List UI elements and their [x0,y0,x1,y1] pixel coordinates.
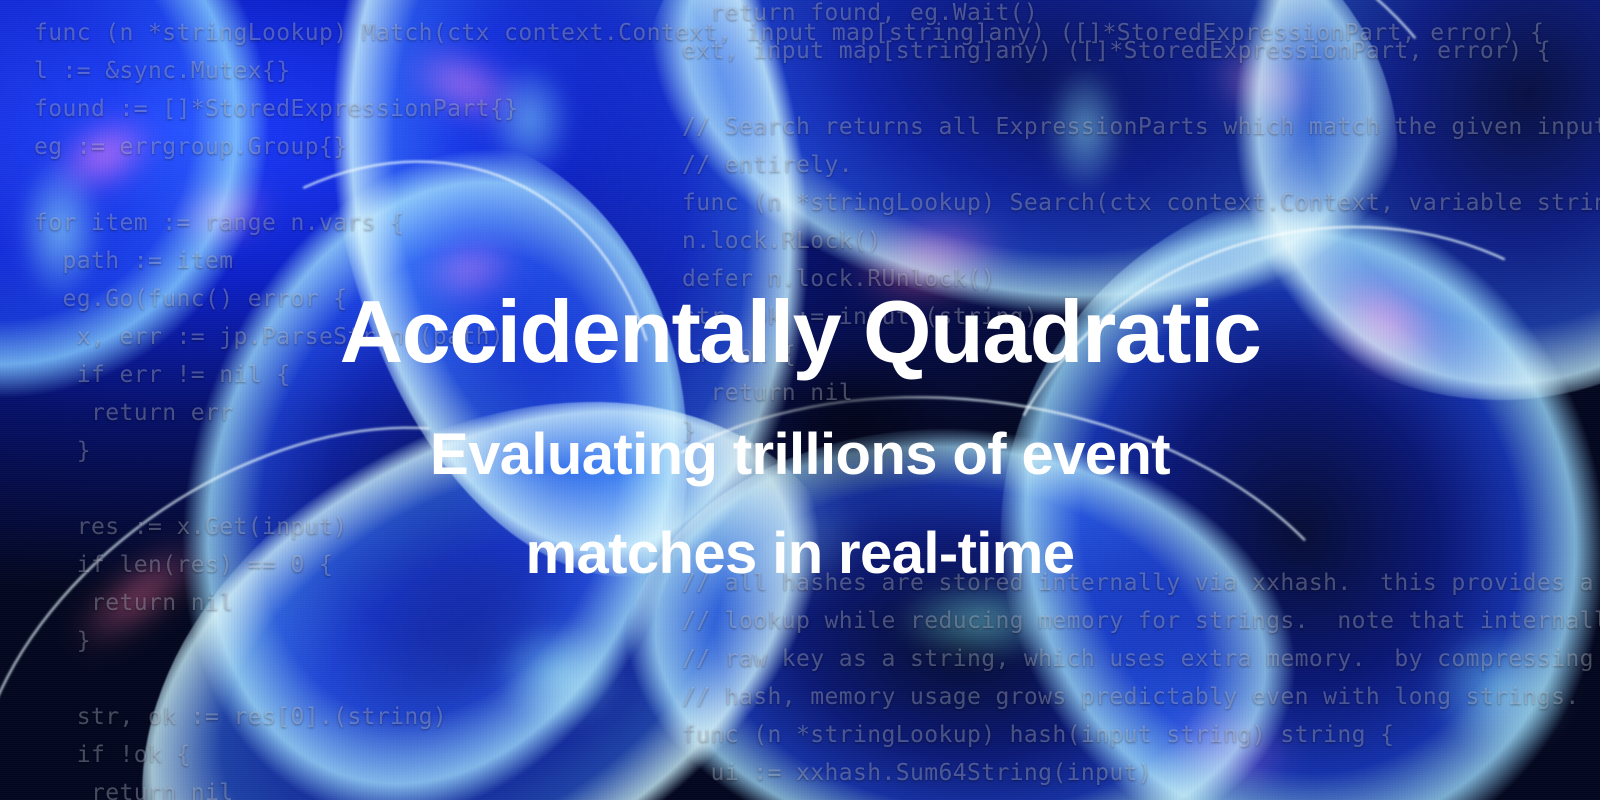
page-subtitle: Evaluating trillions of event matches in… [390,406,1210,603]
hero-text-block: Accidentally Quadratic Evaluating trilli… [0,288,1600,603]
hero-banner: func (n *stringLookup) Match(ctx context… [0,0,1600,800]
cyan-highlight [470,40,590,200]
cyan-highlight [470,600,650,750]
cyan-highlight [1400,600,1600,780]
cyan-highlight [1030,40,1140,220]
page-title: Accidentally Quadratic [0,288,1600,376]
